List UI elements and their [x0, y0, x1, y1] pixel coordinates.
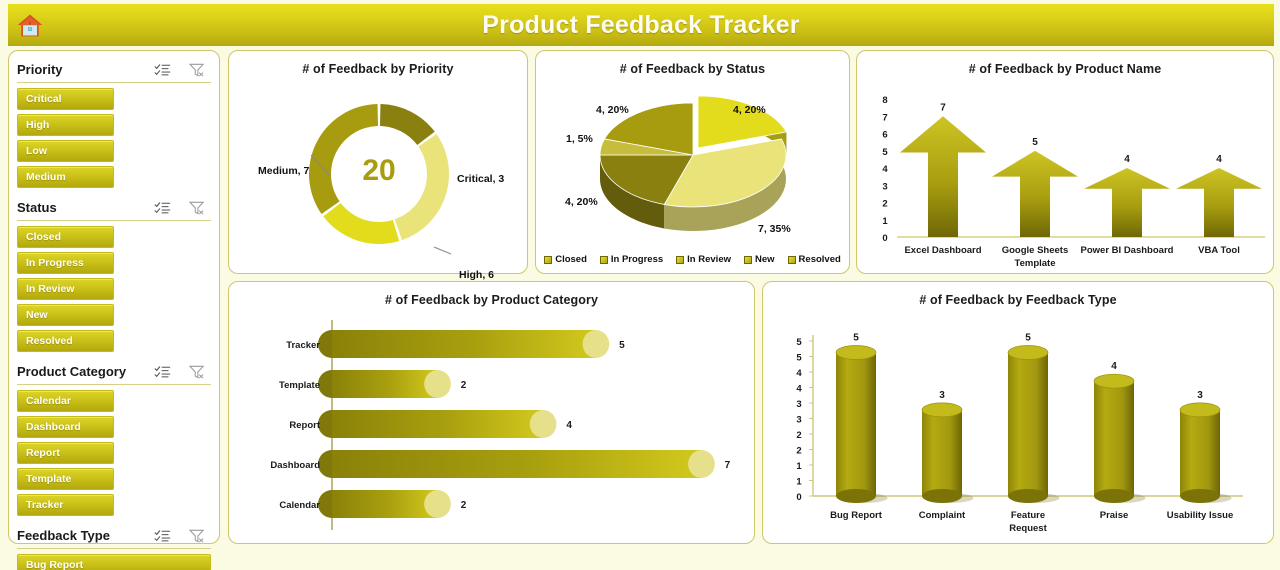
arrow-cat-label: VBA Tool: [1198, 245, 1240, 256]
column-top-cap: [836, 345, 876, 359]
donut-label-medium: Medium, 7: [258, 165, 309, 177]
column-bottom-cap: [922, 489, 962, 503]
hbar-value-label: 7: [725, 460, 731, 471]
col-ytick: 2: [796, 446, 801, 457]
slicer-item-new[interactable]: New: [17, 304, 114, 326]
pie-legend: Closed In Progress In Review New Resolve…: [536, 254, 849, 265]
hbar-cat-label: Dashboard: [270, 460, 320, 471]
legend-swatch-new: [744, 256, 752, 264]
slicer-title: Product Category: [17, 364, 154, 379]
hbar-body: [332, 330, 596, 358]
page-title: Product Feedback Tracker: [482, 11, 799, 40]
slicer-header: Priority: [17, 57, 211, 83]
col-ytick: 5: [796, 353, 802, 364]
slicer-status: Status: [9, 195, 219, 352]
slicer-item-low[interactable]: Low: [17, 140, 114, 162]
chart-title: # of Feedback by Feedback Type: [763, 282, 1273, 307]
arrow-ytick: 2: [882, 199, 887, 210]
column-bottom-cap: [836, 489, 876, 503]
legend-swatch-in-review: [676, 256, 684, 264]
slicer-priority: Priority: [9, 57, 219, 188]
col-ytick: 4: [796, 384, 802, 395]
arrow-bar-vba-tool[interactable]: [1176, 168, 1262, 237]
slicer-items: Bug Report Complaint Feature Request Pra…: [17, 554, 211, 570]
hbar-left-cap: [318, 450, 332, 478]
col-ytick: 0: [796, 492, 801, 503]
arrow-column-chart: 0123456787Excel Dashboard5Google SheetsT…: [857, 75, 1275, 270]
hbar-body: [332, 410, 543, 438]
legend-swatch-in-progress: [600, 256, 608, 264]
column-value-label: 3: [1197, 390, 1203, 401]
slicer-items: Calendar Dashboard Report Template Track…: [17, 390, 211, 516]
arrow-cat-label: Template: [1014, 258, 1055, 269]
hbar-left-cap: [318, 490, 332, 518]
legend-swatch-closed: [544, 256, 552, 264]
legend-item-in-review[interactable]: In Review: [676, 254, 731, 265]
chart-title: # of Feedback by Status: [536, 51, 849, 76]
column-bar-usability-issue[interactable]: [1180, 403, 1232, 503]
slicer-header: Feedback Type: [17, 523, 211, 549]
hbar-right-cap: [530, 410, 557, 438]
arrow-ytick: 4: [882, 164, 888, 175]
donut-segment-critical[interactable]: [380, 104, 435, 145]
cylinder-column-chart-3d: 011223344555Bug Report3Complaint5Feature…: [763, 308, 1275, 540]
chart-title: # of Feedback by Product Category: [229, 282, 754, 307]
slicer-header: Product Category: [17, 359, 211, 385]
hbar-bar-dashboard[interactable]: [318, 450, 715, 478]
slicer-item-resolved[interactable]: Resolved: [17, 330, 114, 352]
arrow-ytick: 6: [882, 130, 887, 141]
multi-select-icon[interactable]: [154, 63, 171, 76]
pie-label-in-review: 4, 20%: [565, 196, 598, 208]
arrow-cat-label: Google Sheets: [1002, 245, 1069, 256]
home-icon[interactable]: [16, 11, 44, 39]
column-bottom-cap: [1180, 489, 1220, 503]
slicer-item-dashboard[interactable]: Dashboard: [17, 416, 114, 438]
column-body: [922, 410, 962, 496]
hbar-body: [332, 450, 701, 478]
column-bar-feature-request[interactable]: [1008, 345, 1060, 503]
slicer-item-medium[interactable]: Medium: [17, 166, 114, 188]
hbar-value-label: 5: [619, 340, 625, 351]
chart-title: # of Feedback by Product Name: [857, 51, 1273, 76]
hbar-body: [332, 370, 438, 398]
hbar-bar-tracker[interactable]: [318, 330, 609, 358]
donut-label-high: High, 6: [459, 269, 494, 281]
slicer-item-template[interactable]: Template: [17, 468, 114, 490]
chart-feedback-by-product-name: # of Feedback by Product Name 0123456787…: [856, 50, 1274, 274]
arrow-bar-excel-dashboard[interactable]: [900, 116, 986, 237]
arrow-ytick: 3: [882, 181, 887, 192]
col-ytick: 4: [796, 368, 802, 379]
hbar-value-label: 2: [461, 380, 467, 391]
slicer-title: Priority: [17, 62, 154, 77]
arrow-ytick: 1: [882, 216, 888, 227]
multi-select-icon[interactable]: [154, 365, 171, 378]
column-bar-bug-report[interactable]: [836, 345, 888, 503]
slicer-item-high[interactable]: High: [17, 114, 114, 136]
arrow-ytick: 8: [882, 95, 887, 106]
arrow-cat-label: Excel Dashboard: [904, 245, 981, 256]
slicer-items: Critical High Low Medium: [17, 88, 211, 188]
hbar-bar-template[interactable]: [318, 370, 451, 398]
slicer-title: Feedback Type: [17, 528, 154, 543]
slicer-item-calendar[interactable]: Calendar: [17, 390, 114, 412]
hbar-value-label: 4: [566, 420, 572, 431]
slicer-item-bug-report[interactable]: Bug Report: [17, 554, 211, 570]
column-value-label: 4: [1111, 361, 1117, 372]
hbar-cat-label: Tracker: [286, 340, 320, 351]
slicer-product-category: Product Category: [9, 359, 219, 516]
column-value-label: 5: [853, 332, 859, 343]
column-top-cap: [1180, 403, 1220, 417]
column-cat-label: Feature: [1011, 510, 1045, 521]
donut-label-critical: Critical, 3: [457, 173, 504, 185]
column-top-cap: [1008, 345, 1048, 359]
hbar-bar-report[interactable]: [318, 410, 556, 438]
legend-label: In Review: [687, 254, 731, 265]
column-top-cap: [1094, 374, 1134, 388]
slicer-item-in-progress[interactable]: In Progress: [17, 252, 114, 274]
column-body: [1008, 352, 1048, 496]
slicer-item-report[interactable]: Report: [17, 442, 114, 464]
arrow-bar-power-bi-dashboard[interactable]: [1084, 168, 1170, 237]
slicer-item-tracker[interactable]: Tracker: [17, 494, 114, 516]
filters-sidebar: Priority: [8, 50, 220, 544]
legend-item-closed[interactable]: Closed: [544, 254, 587, 265]
legend-item-new[interactable]: New: [744, 254, 775, 265]
legend-label: Resolved: [799, 254, 841, 265]
column-cat-label: Complaint: [919, 510, 966, 521]
hbar-bar-calendar[interactable]: [318, 490, 451, 518]
hbar-left-cap: [318, 370, 332, 398]
pie-label-in-progress: 7, 35%: [758, 223, 791, 235]
hbar-left-cap: [318, 330, 332, 358]
chart-feedback-by-priority: # of Feedback by Priority 20 Medium, 7 C…: [228, 50, 528, 274]
chart-feedback-by-status: # of Feedback by Status 4, 20% 4, 20% 1,…: [535, 50, 850, 274]
slicer-items: Closed In Progress In Review New Resolve…: [17, 226, 211, 352]
slicer-feedback-type: Feedback Type: [9, 523, 219, 570]
arrow-value-label: 5: [1032, 137, 1038, 148]
pie-label-resolved: 4, 20%: [596, 104, 629, 116]
arrow-bar-google-sheets-template[interactable]: [992, 151, 1078, 237]
hbar-right-cap: [424, 490, 451, 518]
dashboard-root: Product Feedback Tracker Priority: [0, 0, 1280, 570]
column-value-label: 3: [939, 390, 945, 401]
clear-filter-icon[interactable]: [189, 365, 205, 379]
clear-filter-icon[interactable]: [189, 529, 205, 543]
hbar-right-cap: [583, 330, 610, 358]
hbar-left-cap: [318, 410, 332, 438]
slicer-header: Status: [17, 195, 211, 221]
column-value-label: 5: [1025, 332, 1031, 343]
col-ytick: 1: [796, 477, 802, 488]
arrow-value-label: 4: [1124, 154, 1130, 165]
slicer-item-closed[interactable]: Closed: [17, 226, 114, 248]
clear-filter-icon[interactable]: [189, 63, 205, 77]
col-ytick: 1: [796, 461, 802, 472]
pie-chart-3d: [536, 77, 851, 247]
donut-leader-high: [434, 247, 451, 254]
chart-title: # of Feedback by Priority: [229, 51, 527, 76]
arrow-value-label: 4: [1216, 154, 1222, 165]
donut-segment-low[interactable]: [323, 203, 399, 244]
column-cat-label: Praise: [1100, 510, 1129, 521]
legend-label: Closed: [555, 254, 587, 265]
col-ytick: 2: [796, 430, 801, 441]
arrow-ytick: 7: [882, 112, 887, 123]
column-cat-label: Bug Report: [830, 510, 883, 521]
arrow-ytick: 5: [882, 147, 888, 158]
arrow-value-label: 7: [940, 102, 946, 113]
col-ytick: 3: [796, 399, 801, 410]
pie-label-new: 1, 5%: [566, 133, 593, 145]
column-bar-complaint[interactable]: [922, 403, 974, 503]
column-bottom-cap: [1008, 489, 1048, 503]
hbar-cat-label: Report: [289, 420, 320, 431]
hbar-cat-label: Template: [279, 380, 320, 391]
column-cat-label: Usability Issue: [1167, 510, 1234, 521]
column-bottom-cap: [1094, 489, 1134, 503]
hbar-right-cap: [688, 450, 715, 478]
arrow-ytick: 0: [882, 233, 887, 244]
multi-select-icon[interactable]: [154, 529, 171, 542]
column-body: [1094, 381, 1134, 496]
column-cat-label: Request: [1009, 523, 1047, 534]
multi-select-icon[interactable]: [154, 201, 171, 214]
column-body: [836, 352, 876, 496]
column-top-cap: [922, 403, 962, 417]
legend-item-resolved[interactable]: Resolved: [788, 254, 841, 265]
column-bar-praise[interactable]: [1094, 374, 1146, 503]
arrow-cat-label: Power BI Dashboard: [1081, 245, 1174, 256]
hbar-value-label: 2: [461, 500, 467, 511]
clear-filter-icon[interactable]: [189, 201, 205, 215]
slicer-item-in-review[interactable]: In Review: [17, 278, 114, 300]
legend-label: New: [755, 254, 775, 265]
hbar-right-cap: [424, 370, 451, 398]
hbar-body: [332, 490, 438, 518]
chart-feedback-by-feedback-type: # of Feedback by Feedback Type 011223344…: [762, 281, 1274, 544]
col-ytick: 5: [796, 337, 802, 348]
legend-swatch-resolved: [788, 256, 796, 264]
legend-label: In Progress: [611, 254, 663, 265]
column-body: [1180, 410, 1220, 496]
pie-label-closed: 4, 20%: [733, 104, 766, 116]
col-ytick: 3: [796, 415, 801, 426]
slicer-item-critical[interactable]: Critical: [17, 88, 114, 110]
horizontal-cylinder-bar-chart: 5Tracker2Template4Report7Dashboard2Calen…: [229, 310, 756, 542]
app-header: Product Feedback Tracker: [8, 4, 1274, 46]
hbar-cat-label: Calendar: [279, 500, 320, 511]
chart-feedback-by-product-category: # of Feedback by Product Category 5Track…: [228, 281, 755, 544]
slicer-title: Status: [17, 200, 154, 215]
legend-item-in-progress[interactable]: In Progress: [600, 254, 663, 265]
